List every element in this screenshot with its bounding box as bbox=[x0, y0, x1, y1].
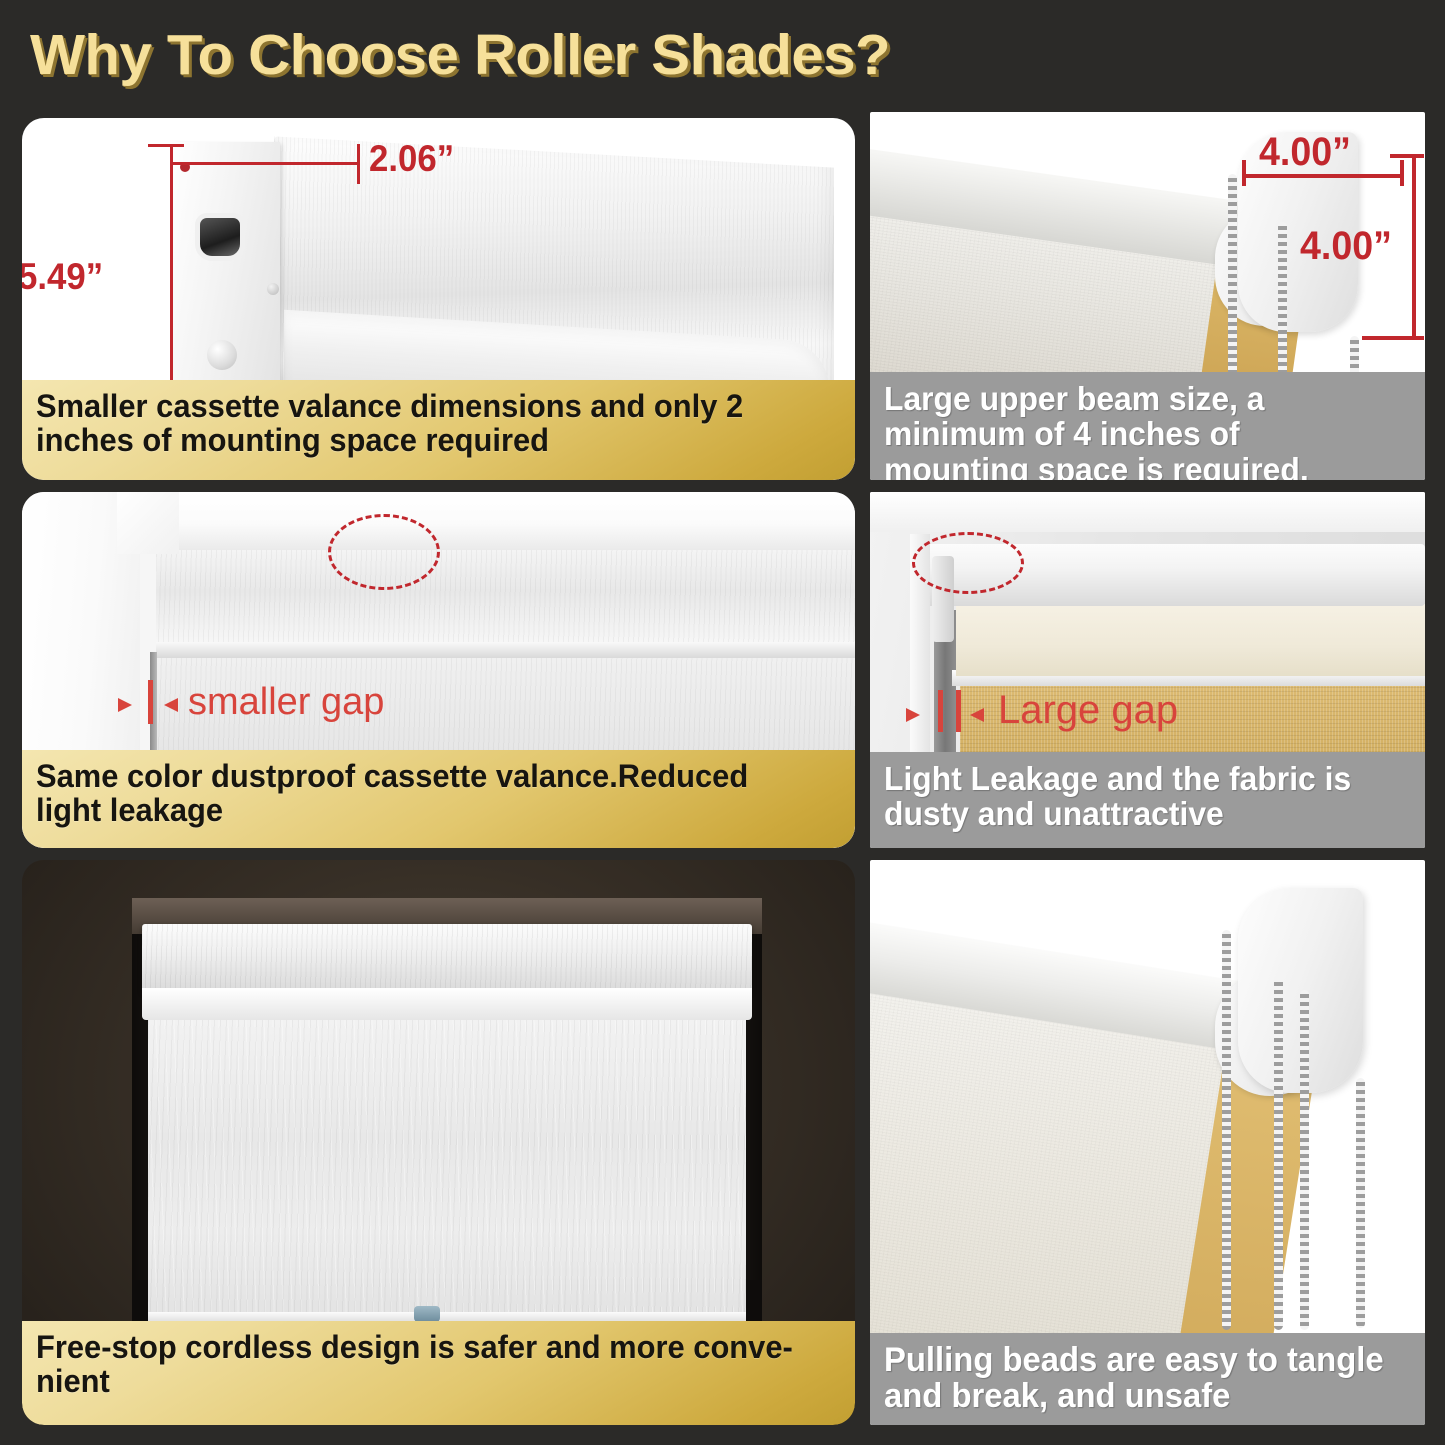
valance-screw-lower bbox=[207, 340, 237, 370]
panel-4-caption-bar: Light Leakage and the fabric is dusty an… bbox=[870, 752, 1425, 848]
panel-1-caption-text: Smaller cassette valance dimensions and … bbox=[36, 389, 813, 457]
width-dim-tick-right bbox=[357, 144, 360, 184]
shade-mid-rail bbox=[156, 640, 855, 658]
gap-tick-line-1 bbox=[938, 690, 943, 732]
panel-4-caption-text: Light Leakage and the fabric is dusty an… bbox=[884, 761, 1393, 832]
bead-chain-3 bbox=[1300, 990, 1309, 1330]
panel-2-caption-bar: Large upper beam size, a minimum of 4 in… bbox=[870, 372, 1425, 480]
cassette-valance-face bbox=[156, 550, 855, 642]
beam-height-tick-bottom bbox=[1362, 336, 1424, 340]
valance-screw-upper bbox=[267, 283, 279, 295]
bead-chain-4 bbox=[1356, 1078, 1365, 1328]
gap-tick-line bbox=[148, 680, 153, 724]
beam-height-dim-line bbox=[1412, 154, 1416, 340]
panel-cordless-design: Free-stop cordless design is safer and m… bbox=[22, 860, 855, 1425]
gap-arrow-right bbox=[164, 698, 178, 712]
beam-height-label: 4.00” bbox=[1300, 224, 1392, 269]
roller-shade-fabric bbox=[148, 1018, 746, 1323]
panel-5-caption-bar: Free-stop cordless design is safer and m… bbox=[22, 1321, 855, 1425]
gap-tick-line-2 bbox=[956, 690, 961, 732]
panel-pulling-beads: Pulling beads are easy to tangle and bre… bbox=[870, 860, 1425, 1425]
height-dimension-label: 5.49” bbox=[22, 256, 103, 298]
bead-chain-1 bbox=[1222, 930, 1231, 1330]
panel-6-caption-text: Pulling beads are easy to tangle and bre… bbox=[884, 1342, 1393, 1415]
width-dimension-label: 2.06” bbox=[369, 138, 454, 180]
panel-1-caption-bar: Smaller cassette valance dimensions and … bbox=[22, 380, 855, 480]
beam-width-label: 4.00” bbox=[1259, 130, 1351, 175]
panel-3-caption-text: Same color dustproof cassette valance.Re… bbox=[36, 759, 813, 827]
panel-large-upper-beam: 4.00” 4.00” Large upper beam size, a min… bbox=[870, 112, 1425, 480]
width-dim-line bbox=[170, 162, 360, 165]
panel-6-caption-bar: Pulling beads are easy to tangle and bre… bbox=[870, 1333, 1425, 1425]
panel-5-caption-text: Free-stop cordless design is safer and m… bbox=[36, 1330, 813, 1398]
shade-grip-handle bbox=[414, 1306, 440, 1322]
beam-width-tick-right bbox=[1400, 160, 1404, 186]
valance-slot bbox=[200, 218, 240, 256]
smaller-gap-label: smaller gap bbox=[188, 681, 384, 724]
window-frame-corner bbox=[117, 492, 179, 554]
cassette-valance-top bbox=[142, 924, 752, 992]
beam-height-tick-top bbox=[1390, 154, 1424, 158]
gap-arrow-left bbox=[906, 708, 920, 722]
title-bar: Why To Choose Roller Shades? bbox=[0, 0, 1445, 104]
panel-smaller-cassette: 2.06” 5.49” Smaller cassette valance dim… bbox=[22, 118, 855, 480]
gap-arrow-left bbox=[118, 698, 132, 712]
highlight-ellipse bbox=[328, 514, 440, 590]
panel-3-caption-bar: Same color dustproof cassette valance.Re… bbox=[22, 750, 855, 848]
window-frame-top bbox=[117, 492, 855, 550]
panel-dustproof-valance: smaller gap Same color dustproof cassett… bbox=[22, 492, 855, 848]
cassette-valance-bottom bbox=[142, 988, 752, 1020]
height-dim-tick-top bbox=[148, 144, 184, 147]
bead-chain-2 bbox=[1274, 978, 1283, 1330]
beam-width-tick-left bbox=[1242, 160, 1246, 186]
ceiling-band bbox=[870, 492, 1425, 532]
gap-arrow-right bbox=[970, 708, 984, 722]
panel-2-caption-text: Large upper beam size, a minimum of 4 in… bbox=[884, 381, 1393, 480]
page-title: Why To Choose Roller Shades? bbox=[30, 22, 890, 88]
shade-cream-fabric bbox=[956, 604, 1425, 676]
highlight-ellipse bbox=[912, 532, 1024, 594]
large-gap-label: Large gap bbox=[998, 688, 1178, 733]
panel-light-leakage: Large gap Light Leakage and the fabric i… bbox=[870, 492, 1425, 848]
